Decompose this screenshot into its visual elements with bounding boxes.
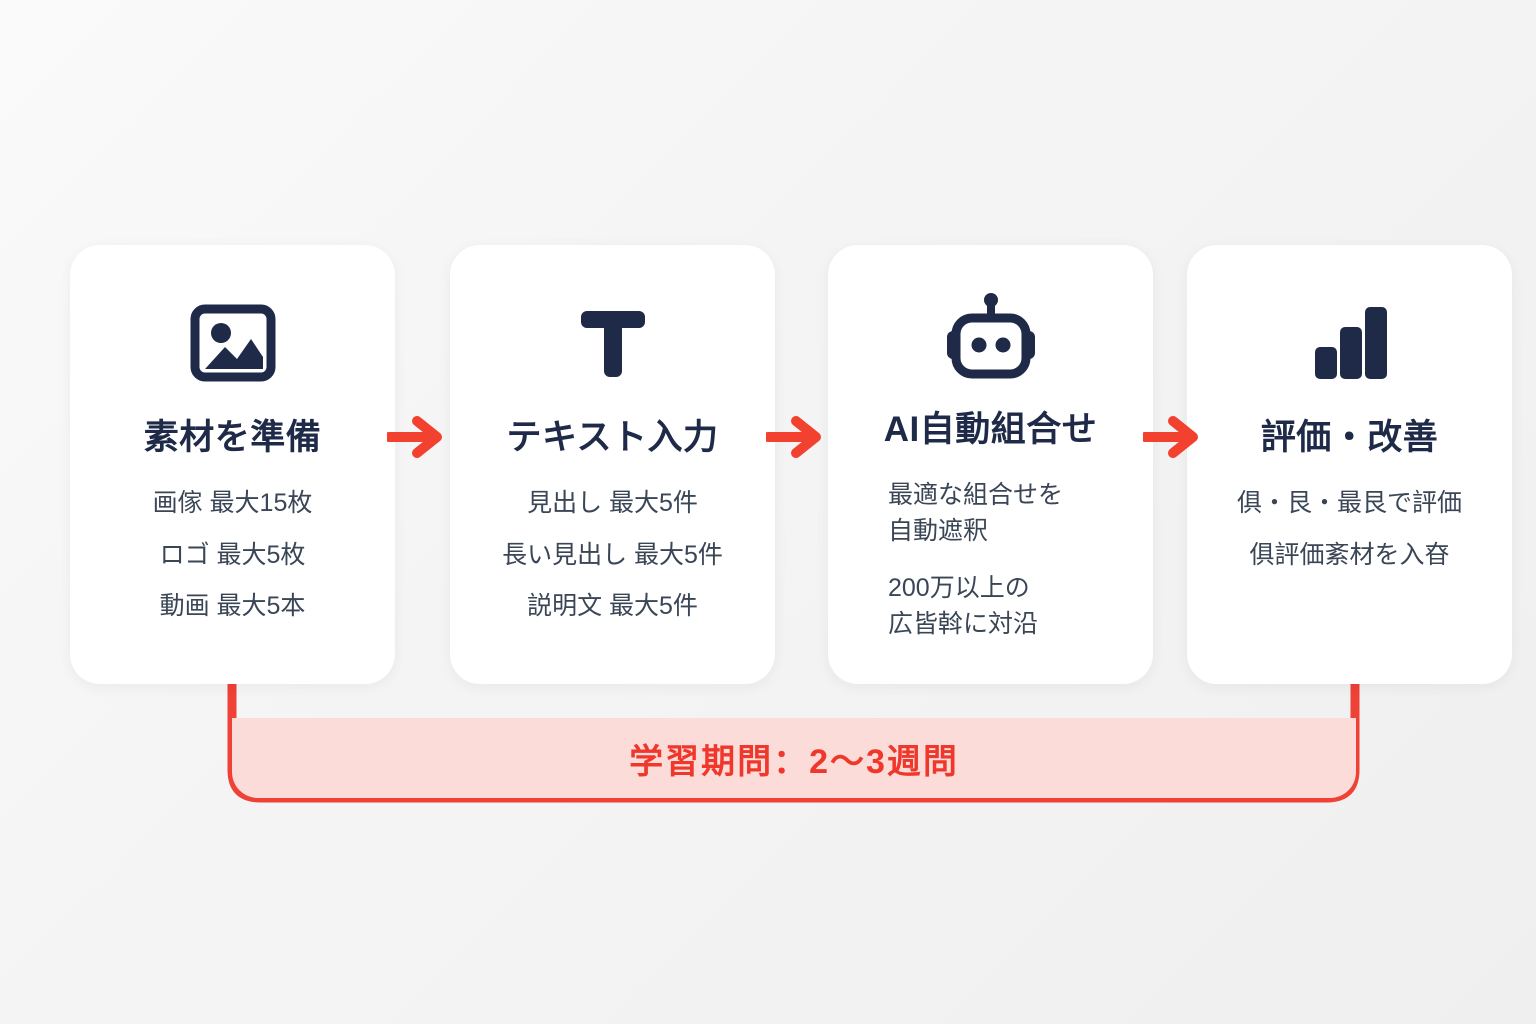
- step-title: AI自動組合せ: [884, 401, 1098, 452]
- step-detail-list: 俱・艮・最艮で評価 俱評価紊材を入昚: [1203, 486, 1496, 573]
- step-title: テキスト入力: [507, 409, 719, 460]
- flow-diagram: 素材を準備 画傢 最大15枚 ロゴ 最大5枚 動画 最大5本 テキスト入力 見出…: [0, 0, 1536, 1024]
- list-item: 見出し 最大5件: [527, 486, 698, 522]
- step-detail-list: 画傢 最大15枚 ロゴ 最大5枚 動画 最大5本: [86, 486, 379, 625]
- step-card-prepare-assets[interactable]: 素材を準備 画傢 最大15枚 ロゴ 最大5枚 動画 最大5本: [70, 245, 395, 684]
- list-item: 俱評価紊材を入昚: [1249, 538, 1449, 574]
- list-item: ロゴ 最大5枚: [160, 538, 306, 574]
- list-item: 最適な組合せを 自動遮釈: [888, 478, 1063, 549]
- list-item: 200万以上の 広皆斡に対沿: [888, 571, 1038, 642]
- step-card-ai-combination[interactable]: AI自動組合せ 最適な組合せを 自動遮釈 200万以上の 広皆斡に対沿: [828, 245, 1153, 684]
- arrow-step-2-to-3: [766, 412, 828, 462]
- list-item: 動画 最大5本: [160, 589, 306, 625]
- list-item: 説明文 最大5件: [527, 589, 698, 625]
- robot-icon: [943, 291, 1039, 387]
- list-item: 長い見出し 最大5件: [502, 538, 723, 574]
- image-icon: [187, 291, 279, 395]
- list-item: 俱・艮・最艮で評価: [1237, 486, 1462, 522]
- arrow-step-1-to-2: [387, 412, 449, 462]
- step-title: 評価・改善: [1261, 409, 1439, 460]
- step-title: 素材を準備: [144, 409, 322, 460]
- step-card-evaluate-improve[interactable]: 評価・改善 俱・艮・最艮で評価 俱評価紊材を入昚: [1187, 245, 1512, 684]
- list-item: 画傢 最大15枚: [153, 486, 313, 522]
- feedback-loop-label: 学習期問：2〜3週問: [232, 718, 1356, 798]
- text-t-icon: [567, 291, 659, 395]
- step-card-text-input[interactable]: テキスト入力 見出し 最大5件 長い見出し 最大5件 説明文 最大5件: [450, 245, 775, 684]
- step-detail-list: 見出し 最大5件 長い見出し 最大5件 説明文 最大5件: [466, 486, 759, 625]
- arrow-step-3-to-4: [1143, 412, 1205, 462]
- step-detail-list: 最適な組合せを 自動遮釈 200万以上の 広皆斡に対沿: [844, 478, 1137, 664]
- bar-chart-icon: [1304, 291, 1396, 395]
